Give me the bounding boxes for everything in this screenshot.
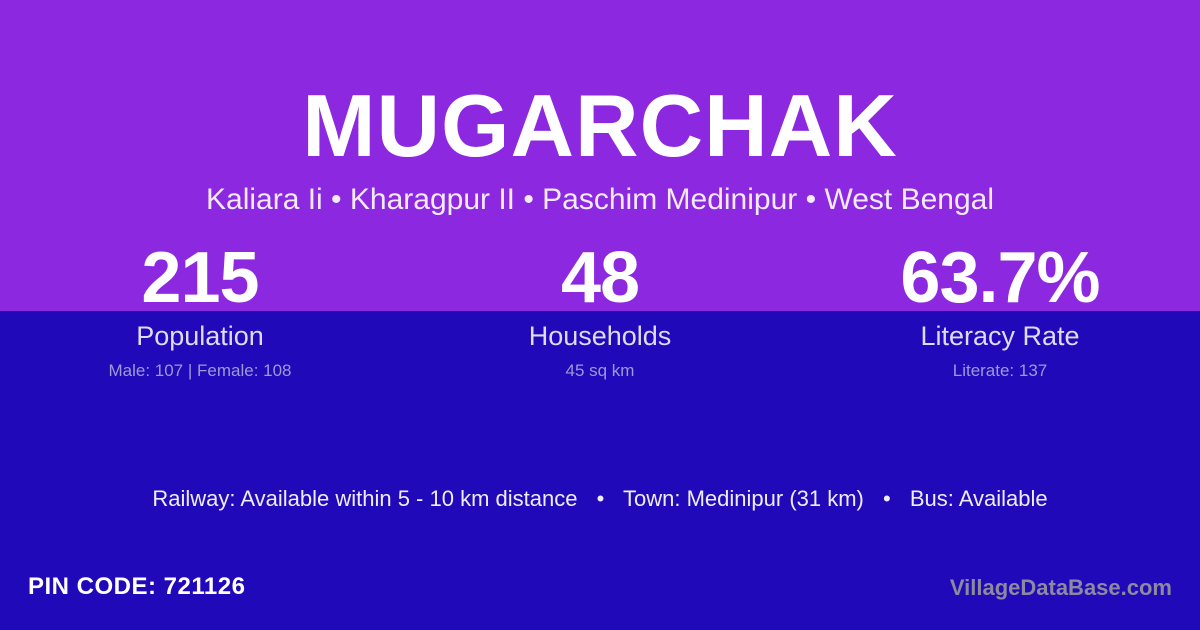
stat-literacy-rate-label: Literacy Rate (800, 320, 1200, 352)
stat-literacy-rate: 63.7% Literacy Rate Literate: 137 (800, 240, 1200, 382)
site-brand-watermark: VillageDataBase.com (950, 574, 1172, 602)
stat-population-label: Population (0, 320, 400, 352)
village-name-title: MUGARCHAK (0, 78, 1200, 174)
stat-population: 215 Population Male: 107 | Female: 108 (0, 240, 400, 382)
stat-households-sub: 45 sq km (400, 360, 800, 382)
statistics-row: 215 Population Male: 107 | Female: 108 4… (0, 240, 1200, 382)
info-bus: Bus: Available (910, 486, 1048, 511)
village-location-breadcrumb: Kaliara Ii • Kharagpur II • Paschim Medi… (0, 182, 1200, 218)
stat-literacy-rate-value: 63.7% (800, 240, 1200, 316)
stat-population-sub: Male: 107 | Female: 108 (0, 360, 400, 382)
bullet-separator-icon: • (584, 486, 618, 511)
card-footer: PIN CODE: 721126 VillageDataBase.com (0, 572, 1200, 616)
stat-households: 48 Households 45 sq km (400, 240, 800, 382)
bullet-separator-icon: • (870, 486, 904, 511)
info-nearest-town: Town: Medinipur (31 km) (623, 486, 864, 511)
stat-population-value: 215 (0, 240, 400, 316)
stat-households-label: Households (400, 320, 800, 352)
stat-literacy-rate-sub: Literate: 137 (800, 360, 1200, 382)
stat-households-value: 48 (400, 240, 800, 316)
info-railway: Railway: Available within 5 - 10 km dist… (152, 486, 577, 511)
pin-code-text: PIN CODE: 721126 (28, 572, 245, 602)
connectivity-info-row: Railway: Available within 5 - 10 km dist… (0, 483, 1200, 515)
village-info-card: MUGARCHAK Kaliara Ii • Kharagpur II • Pa… (0, 0, 1200, 630)
